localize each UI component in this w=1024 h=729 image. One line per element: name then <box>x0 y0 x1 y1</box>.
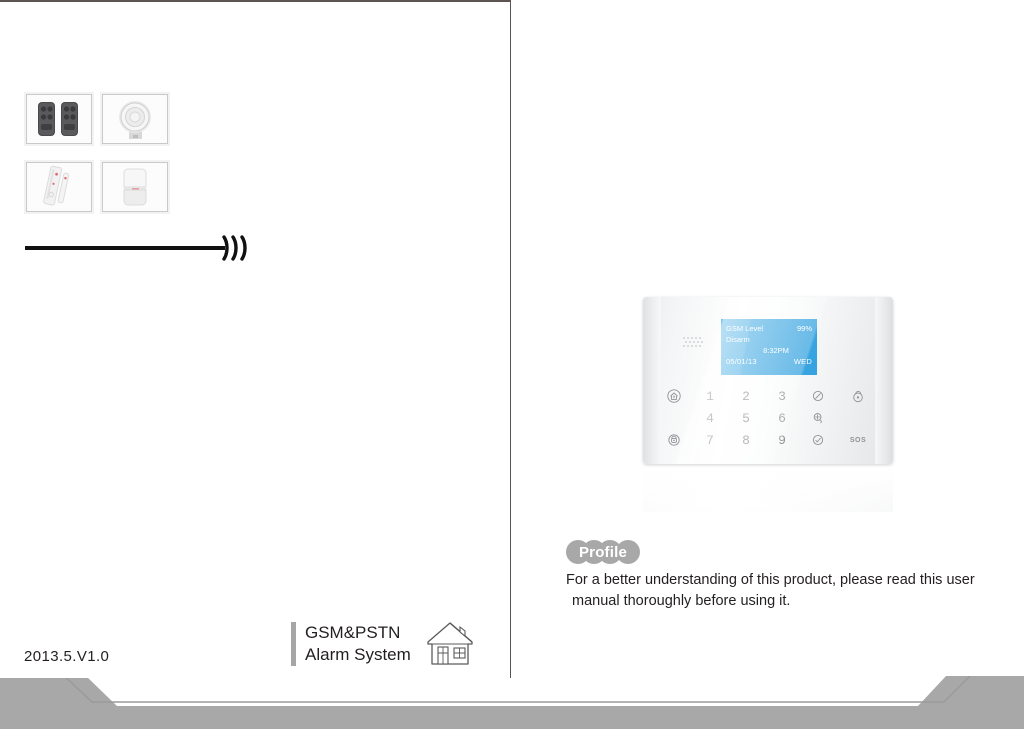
lcd-gsm-value: 99% <box>797 323 812 334</box>
accessory-thumb-pir-detector <box>102 162 168 212</box>
accessory-thumb-siren <box>102 94 168 144</box>
signal-transmission-line <box>25 246 225 250</box>
manual-cover-spread: 2013.5.V1.0 GSM&PSTN Alarm System G <box>0 0 1024 729</box>
back-cover-logo-line1: GSM&PSTN <box>305 622 411 644</box>
key-4[interactable]: 4 <box>699 409 721 427</box>
back-cover-logo-line2: Alarm System <box>305 644 411 666</box>
back-cover-logo-text: GSM&PSTN Alarm System <box>305 622 411 666</box>
profile-badge-label: Profile <box>566 540 640 564</box>
key-home-arm-away[interactable] <box>663 387 685 405</box>
key-3[interactable]: 3 <box>771 387 793 405</box>
accessory-thumb-door-contact <box>26 162 92 212</box>
accessory-thumb-remote-controls <box>26 94 92 144</box>
lcd-gsm-label: GSM Level <box>726 323 763 334</box>
lcd-status: Disarm <box>726 334 812 345</box>
key-unlock[interactable] <box>847 387 869 405</box>
speaker-grille-icon <box>683 337 703 349</box>
alarm-panel-figure: GSM Level 99% Disarm 8:32PM 05/01/13 WED… <box>643 297 893 512</box>
key-6[interactable]: 6 <box>771 409 793 427</box>
key-slash-circle-disarm[interactable] <box>807 387 829 405</box>
key-1[interactable]: 1 <box>699 387 721 405</box>
panel-left-edge <box>643 297 661 464</box>
lcd-date: 05/01/13 <box>726 356 757 367</box>
lcd-row-gsm: GSM Level 99% <box>726 323 812 334</box>
key-9[interactable]: 9 <box>771 431 793 449</box>
key-5[interactable]: 5 <box>735 409 757 427</box>
panel-reflection <box>643 465 893 512</box>
key-2[interactable]: 2 <box>735 387 757 405</box>
alarm-control-panel: GSM Level 99% Disarm 8:32PM 05/01/13 WED… <box>643 297 893 464</box>
profile-description: For a better understanding of this produ… <box>566 570 986 612</box>
lcd-row-date: 05/01/13 WED <box>726 356 812 367</box>
key-7[interactable]: 7 <box>699 431 721 449</box>
panel-right-edge <box>875 297 893 464</box>
profile-badge: Profile <box>566 540 640 564</box>
signal-arrow-icon <box>222 234 252 262</box>
profile-text-line1: For a better understanding of this produ… <box>566 570 986 591</box>
key-check-circle-confirm[interactable] <box>807 431 829 449</box>
logo-accent-bar <box>291 622 296 666</box>
key-lock-arm[interactable] <box>663 431 685 449</box>
lcd-time: 8:32PM <box>726 345 812 356</box>
lcd-weekday: WED <box>794 356 812 367</box>
key-8[interactable]: 8 <box>735 431 757 449</box>
house-icon <box>420 614 480 674</box>
keypad: 1 2 3 4 5 6 <box>663 387 875 449</box>
profile-text-line2: manual thoroughly before using it. <box>566 591 986 612</box>
version-label: 2013.5.V1.0 <box>24 648 109 665</box>
back-cover-page: 2013.5.V1.0 GSM&PSTN Alarm System <box>0 0 511 678</box>
back-cover-logo: GSM&PSTN Alarm System <box>291 614 480 674</box>
lcd-display: GSM Level 99% Disarm 8:32PM 05/01/13 WED <box>721 319 817 375</box>
key-sos[interactable]: SOS <box>847 431 869 449</box>
key-bell[interactable] <box>807 409 829 427</box>
